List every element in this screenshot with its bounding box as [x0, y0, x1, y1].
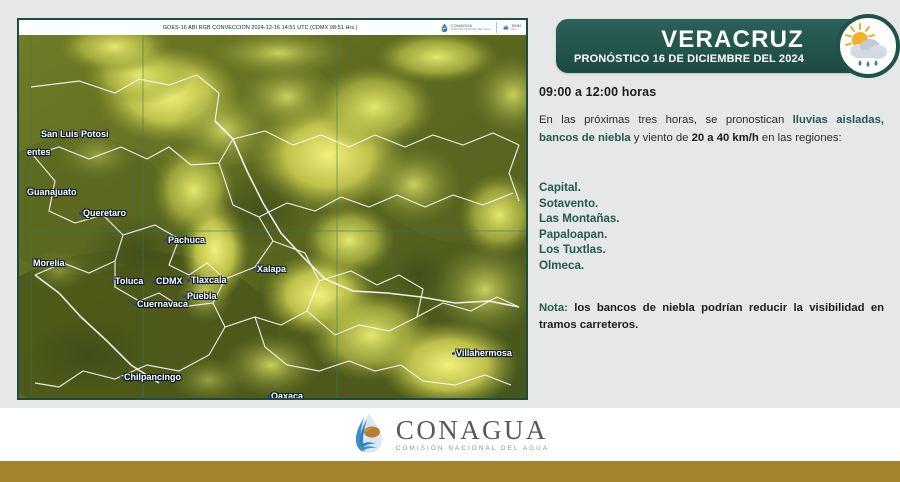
banner-plate: VERACRUZ PRONÓSTICO 16 DE DICIEMBRE DEL … [556, 19, 854, 73]
city-marker-dot [164, 239, 167, 242]
region-item: Papaloapan. [539, 227, 620, 243]
forecast-timeframe: 09:00 a 12:00 horas [539, 85, 656, 99]
footer-bar: CONAGUA COMISIÓN NACIONAL DEL AGUA [0, 408, 900, 461]
note-label: Nota: [539, 302, 568, 314]
satellite-caption-bar: GOES-16 ABI RGB CONVECCION 2024-12-16 14… [19, 20, 526, 35]
city-marker-dot [183, 295, 186, 298]
note-text: los bancos de niebla podrían reducir la … [539, 302, 884, 331]
paragraph-highlight-wind: 20 a 40 km/h [692, 132, 759, 144]
weather-badge [836, 14, 900, 78]
city-marker-dot [452, 352, 455, 355]
conagua-water-icon [441, 23, 448, 33]
conagua-name: CONAGUA [396, 417, 549, 444]
sun-cloud-rain-icon [843, 21, 893, 71]
conagua-logo: CONAGUA COMISIÓN NACIONAL DEL AGUA [351, 412, 549, 458]
paragraph-part1: En las próximas tres horas, se pronostic… [539, 114, 793, 126]
logo-divider [496, 22, 497, 33]
city-marker-dot [253, 268, 256, 271]
satellite-logo-group: CONAGUA COMISIÓN NACIONAL DEL AGUA SMN M… [441, 22, 526, 33]
bottom-gold-bar [0, 461, 900, 482]
forecast-paragraph: En las próximas tres horas, se pronostic… [539, 112, 884, 147]
smn-emblem-icon [502, 23, 510, 32]
city-marker-dot [111, 280, 114, 283]
city-marker-dot [79, 212, 82, 215]
region-item: Sotavento. [539, 196, 620, 212]
page-title: VERACRUZ [661, 28, 804, 52]
forecast-poster: GOES-16 ABI RGB CONVECCION 2024-12-16 14… [0, 0, 900, 482]
conagua-tagline: COMISIÓN NACIONAL DEL AGUA [396, 446, 549, 452]
forecast-text-column: VERACRUZ PRONÓSTICO 16 DE DICIEMBRE DEL … [534, 0, 900, 400]
city-marker-dot [133, 303, 136, 306]
paragraph-part3: en las regiones: [759, 132, 842, 144]
smn-mini-sub: Mex [512, 28, 522, 31]
city-marker-dot [120, 376, 123, 379]
raindrops-icon [859, 60, 878, 67]
paragraph-part2: y viento de [631, 132, 692, 144]
conagua-mini-sub: COMISIÓN NACIONAL DEL AGUA [450, 28, 490, 31]
satellite-imagery-svg [19, 35, 526, 398]
satellite-imagery: San Luis PotosientesGuanajuatoQueretaroM… [19, 35, 526, 398]
city-marker-dot [187, 279, 190, 282]
city-marker-dot [152, 280, 155, 283]
region-item: Olmeca. [539, 258, 620, 274]
satellite-caption-text: GOES-16 ABI RGB CONVECCION 2024-12-16 14… [19, 25, 441, 31]
smn-mini-logo: SMN Mex [502, 23, 522, 32]
affected-regions-list: Capital.Sotavento.Las Montañas.Papaloapa… [539, 180, 620, 274]
region-item: Capital. [539, 180, 620, 196]
forecast-note: Nota: los bancos de niebla podrían reduc… [539, 300, 884, 333]
city-marker-dot [267, 395, 270, 398]
conagua-wordmark: CONAGUA COMISIÓN NACIONAL DEL AGUA [396, 417, 549, 452]
conagua-mini-logo: CONAGUA COMISIÓN NACIONAL DEL AGUA [441, 23, 490, 33]
forecast-date: PRONÓSTICO 16 DE DICIEMBRE DEL 2024 [574, 54, 804, 65]
satellite-image-panel: GOES-16 ABI RGB CONVECCION 2024-12-16 14… [17, 18, 528, 400]
conagua-water-eagle-icon [351, 412, 387, 458]
region-item: Las Montañas. [539, 211, 620, 227]
state-header-banner: VERACRUZ PRONÓSTICO 16 DE DICIEMBRE DEL … [556, 14, 900, 78]
region-item: Los Tuxtlas. [539, 242, 620, 258]
